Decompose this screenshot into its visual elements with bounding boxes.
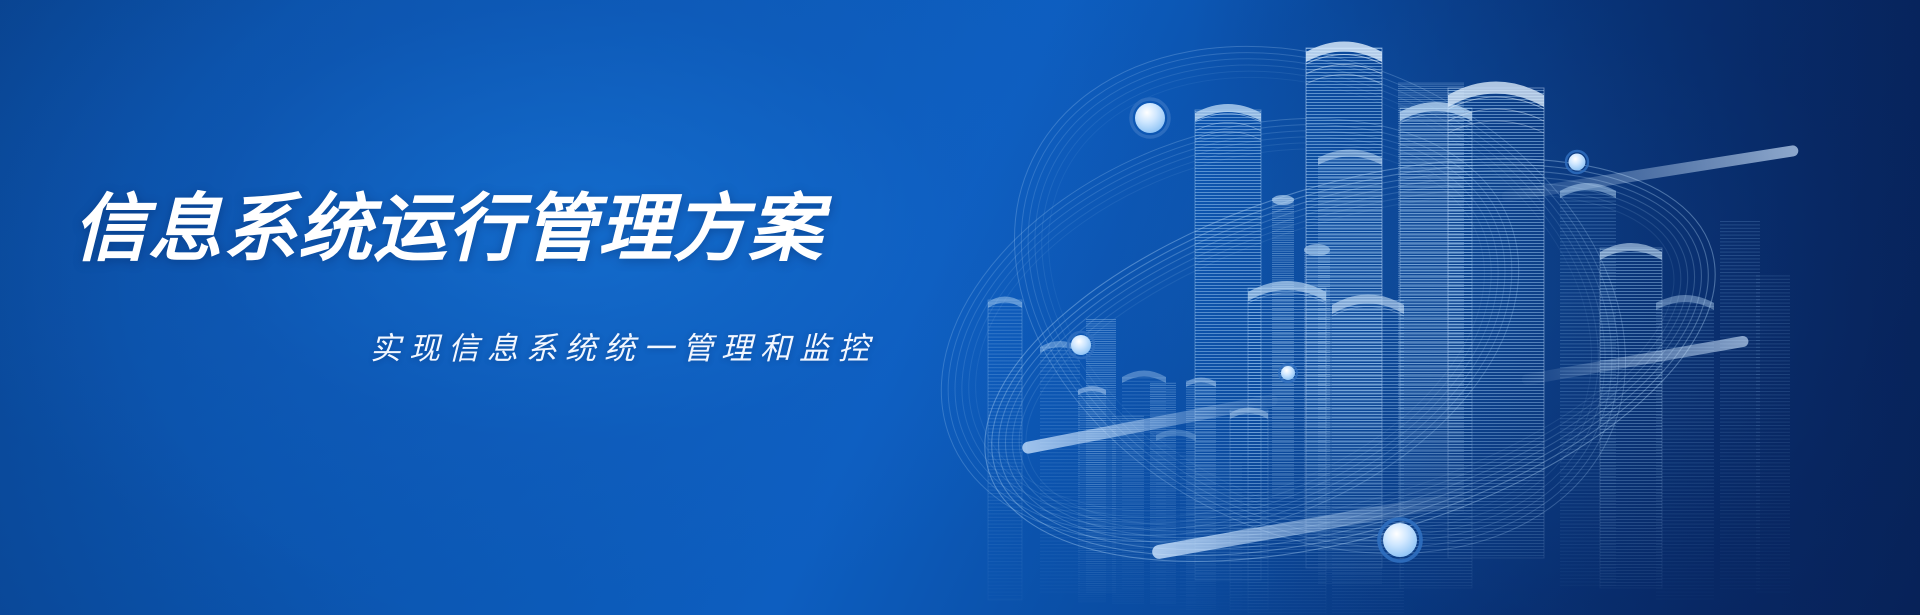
light-streak-1 <box>1501 145 1799 203</box>
hero-banner: 信息系统运行管理方案 实现信息系统统一管理和监控 <box>0 0 1920 615</box>
tower-17 <box>1332 295 1404 615</box>
glow-dot-4 <box>1379 519 1421 561</box>
tower-15 <box>1600 243 1662 588</box>
glow-dot-2 <box>1068 332 1094 358</box>
city-illustration <box>900 0 1920 615</box>
glow-dot-1 <box>1131 99 1169 137</box>
tower-25 <box>1720 220 1760 590</box>
glow-dot-5 <box>1566 151 1588 173</box>
page-title: 信息系统运行管理方案 <box>73 192 823 266</box>
banner-text-block: 信息系统运行管理方案 实现信息系统统一管理和监控 <box>0 0 1000 615</box>
tower-2 <box>1040 341 1080 595</box>
glow-dot-3 <box>1279 364 1297 382</box>
page-subtitle: 实现信息系统统一管理和监控 <box>370 333 877 364</box>
tower-26 <box>1756 275 1790 595</box>
